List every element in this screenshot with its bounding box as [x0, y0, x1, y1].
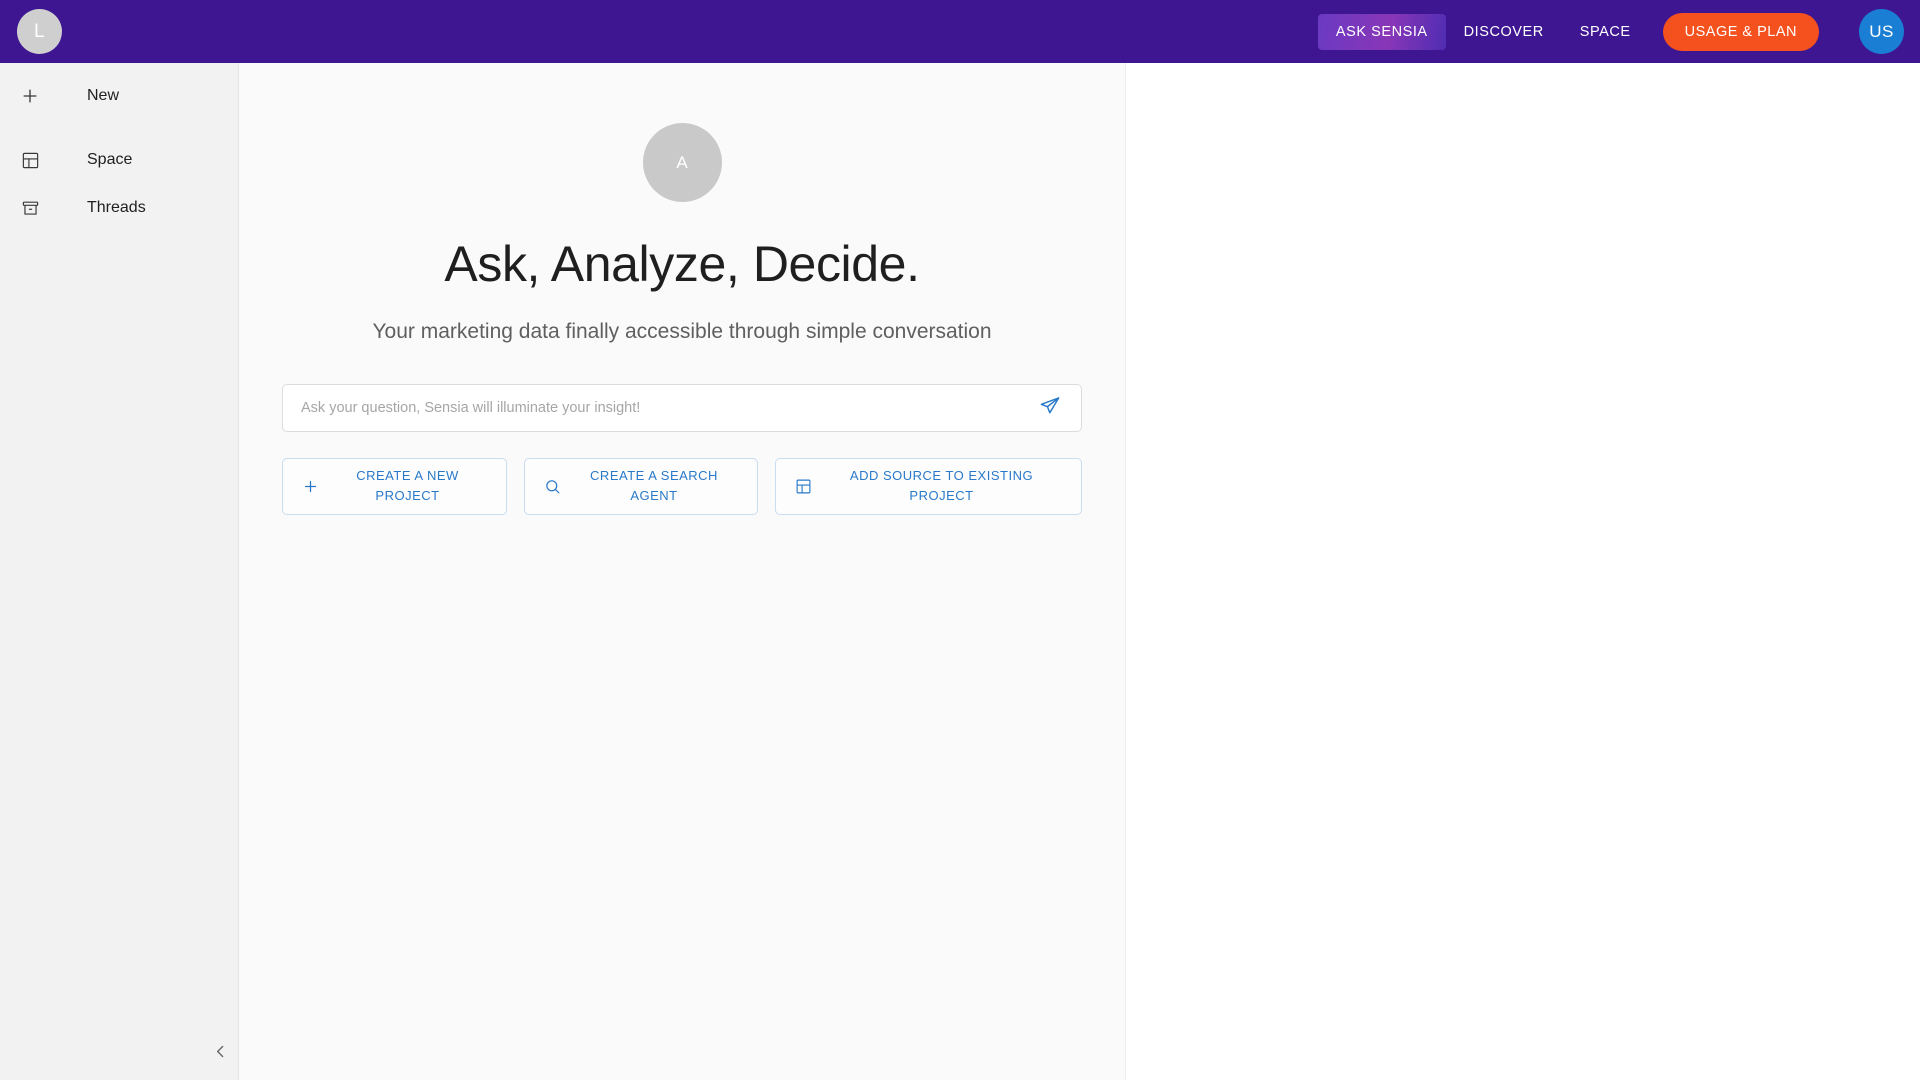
question-search-bar[interactable]: [282, 384, 1082, 432]
sidebar-item-threads[interactable]: Threads: [0, 184, 238, 232]
sidebar-item-threads-label: Threads: [87, 199, 146, 217]
page-title: Ask, Analyze, Decide.: [444, 238, 919, 291]
add-source-existing-project-label: ADD SOURCE TO EXISTING PROJECT: [816, 466, 1067, 506]
question-input[interactable]: [301, 385, 1033, 431]
usage-and-plan-button[interactable]: USAGE & PLAN: [1663, 13, 1819, 51]
send-button[interactable]: [1033, 391, 1067, 425]
create-search-agent-button[interactable]: CREATE A SEARCH AGENT: [524, 458, 758, 515]
sidebar-item-space-label: Space: [87, 151, 132, 169]
sidebar-item-new-label: New: [87, 87, 119, 105]
left-sidebar: New Space Threads: [0, 63, 239, 1080]
create-new-project-button[interactable]: CREATE A NEW PROJECT: [282, 458, 507, 515]
sidebar-item-new[interactable]: New: [0, 72, 238, 120]
layout-panel-icon: [790, 473, 816, 499]
main-content-panel: A Ask, Analyze, Decide. Your marketing d…: [239, 63, 1126, 1080]
assistant-avatar: A: [643, 123, 722, 202]
app-root: L ASK SENSIA DISCOVER SPACE USAGE & PLAN…: [0, 0, 1920, 1080]
top-header-bar: L ASK SENSIA DISCOVER SPACE USAGE & PLAN…: [0, 0, 1920, 63]
user-avatar[interactable]: US: [1859, 9, 1904, 54]
nav-item-space[interactable]: SPACE: [1562, 14, 1649, 50]
add-source-existing-project-button[interactable]: ADD SOURCE TO EXISTING PROJECT: [775, 458, 1082, 515]
nav-item-ask-sensia[interactable]: ASK SENSIA: [1318, 14, 1446, 50]
search-icon: [539, 473, 565, 499]
brand-avatar[interactable]: L: [17, 9, 62, 54]
sidebar-item-space[interactable]: Space: [0, 136, 238, 184]
sidebar-collapse-button[interactable]: [205, 1038, 235, 1068]
send-paper-plane-icon: [1039, 395, 1061, 420]
chevron-left-icon: [212, 1043, 229, 1063]
layout-panel-icon: [17, 147, 43, 173]
assistant-avatar-initial: A: [676, 153, 687, 173]
brand-avatar-initial: L: [34, 21, 45, 43]
usage-and-plan-label: USAGE & PLAN: [1685, 24, 1797, 40]
plus-icon: [17, 83, 43, 109]
page-subtitle: Your marketing data finally accessible t…: [372, 320, 991, 344]
nav-item-discover[interactable]: DISCOVER: [1446, 14, 1562, 50]
nav-item-space-label: SPACE: [1580, 24, 1631, 40]
user-avatar-initials: US: [1869, 22, 1893, 42]
quick-action-buttons: CREATE A NEW PROJECT CREATE A SEARCH AGE…: [282, 458, 1082, 515]
plus-icon: [297, 473, 323, 499]
hero-section: A Ask, Analyze, Decide. Your marketing d…: [282, 63, 1082, 515]
nav-item-ask-sensia-label: ASK SENSIA: [1336, 24, 1428, 40]
create-new-project-label: CREATE A NEW PROJECT: [323, 466, 492, 506]
nav-item-discover-label: DISCOVER: [1464, 24, 1544, 40]
create-search-agent-label: CREATE A SEARCH AGENT: [565, 466, 743, 506]
right-empty-panel: [1127, 63, 1920, 1080]
archive-box-icon: [17, 195, 43, 221]
top-navigation: ASK SENSIA DISCOVER SPACE USAGE & PLAN: [1318, 13, 1819, 51]
